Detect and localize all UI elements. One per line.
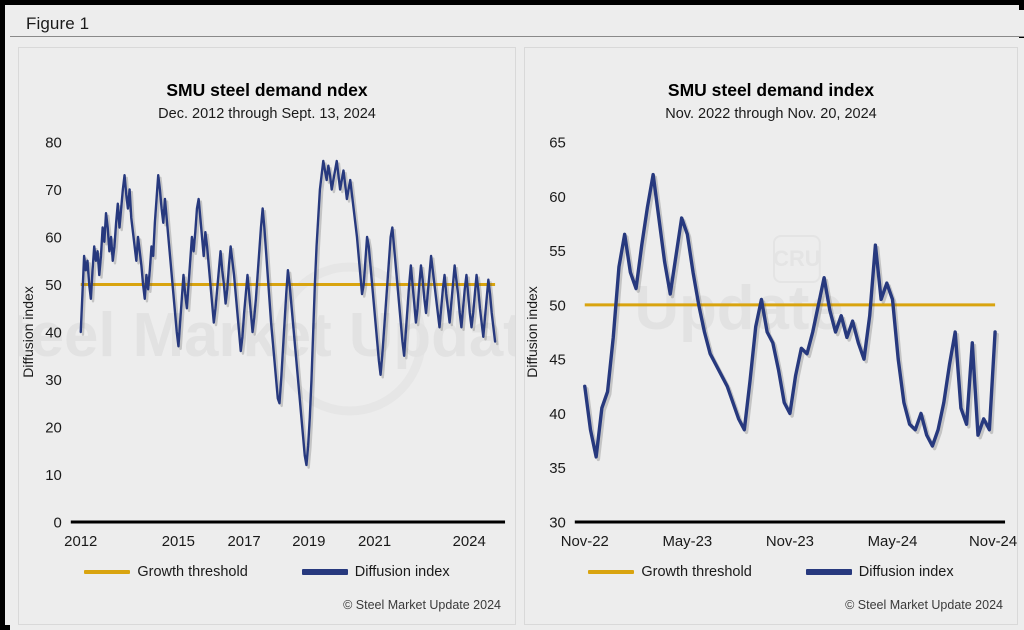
legend-label-diffusion-index: Diffusion index	[859, 564, 954, 580]
svg-text:40: 40	[45, 324, 62, 341]
chart-title-left: SMU steel demand ndex	[19, 80, 515, 101]
svg-text:50: 50	[549, 297, 566, 314]
svg-text:0: 0	[54, 514, 62, 531]
legend-item-growth-threshold[interactable]: Growth threshold	[588, 564, 751, 580]
svg-text:60: 60	[45, 229, 62, 246]
svg-text:Nov-24: Nov-24	[969, 533, 1017, 550]
legend-label-growth-threshold: Growth threshold	[641, 564, 751, 580]
plot-area-right: UpdateCRU3035404550556065Diffusion index…	[525, 134, 1017, 554]
svg-text:60: 60	[549, 189, 566, 206]
legend-item-diffusion-index[interactable]: Diffusion index	[806, 564, 954, 580]
svg-text:2012: 2012	[64, 533, 97, 550]
plot-area-left: Steel Market Update01020304050607080Diff…	[19, 134, 515, 554]
svg-text:10: 10	[45, 467, 62, 484]
svg-text:2015: 2015	[162, 533, 195, 550]
chart-subtitle-left: Dec. 2012 through Sept. 13, 2024	[19, 106, 515, 122]
y-axis-title: Diffusion index	[20, 286, 36, 378]
legend-line-icon-blue	[302, 569, 348, 575]
figure-label: Figure 1	[26, 14, 89, 34]
svg-text:20: 20	[45, 419, 62, 436]
chart-title-right: SMU steel demand index	[525, 80, 1017, 101]
legend-line-icon-gold	[84, 570, 130, 574]
svg-text:2021: 2021	[358, 533, 391, 550]
svg-text:50: 50	[45, 277, 62, 294]
svg-text:2019: 2019	[292, 533, 325, 550]
legend-right: Growth threshold Diffusion index	[525, 564, 1017, 580]
svg-text:CRU: CRU	[773, 246, 820, 271]
copyright-right: © Steel Market Update 2024	[845, 598, 1003, 612]
x-axis-ticks: Nov-22May-23Nov-23May-24Nov-24	[561, 533, 1017, 550]
chart-svg-right: UpdateCRU3035404550556065Diffusion index…	[525, 134, 1017, 554]
svg-text:40: 40	[549, 406, 566, 423]
svg-text:70: 70	[45, 182, 62, 199]
svg-text:Nov-23: Nov-23	[766, 533, 814, 550]
legend-line-icon-blue	[806, 569, 852, 575]
legend-left: Growth threshold Diffusion index	[19, 564, 515, 580]
chart-panel-left: SMU steel demand ndex Dec. 2012 through …	[18, 47, 516, 625]
svg-text:55: 55	[549, 243, 566, 260]
chart-panel-right: SMU steel demand index Nov. 2022 through…	[524, 47, 1018, 625]
panels-container: SMU steel demand ndex Dec. 2012 through …	[10, 38, 1024, 630]
svg-text:30: 30	[549, 514, 566, 531]
svg-text:May-24: May-24	[868, 533, 918, 550]
legend-label-growth-threshold: Growth threshold	[137, 564, 247, 580]
svg-text:May-23: May-23	[662, 533, 712, 550]
y-axis-title: Diffusion index	[525, 286, 540, 378]
legend-item-diffusion-index[interactable]: Diffusion index	[302, 564, 450, 580]
y-axis-ticks: 3035404550556065	[549, 134, 566, 531]
svg-text:2024: 2024	[453, 533, 486, 550]
svg-text:45: 45	[549, 352, 566, 369]
chart-svg-left: Steel Market Update01020304050607080Diff…	[19, 134, 515, 554]
figure-header: Figure 1	[10, 10, 1024, 37]
chart-subtitle-right: Nov. 2022 through Nov. 20, 2024	[525, 106, 1017, 122]
svg-text:30: 30	[45, 372, 62, 389]
svg-text:80: 80	[45, 134, 62, 151]
svg-text:2017: 2017	[227, 533, 260, 550]
legend-label-diffusion-index: Diffusion index	[355, 564, 450, 580]
figure-frame: Figure 1 SMU steel demand ndex Dec. 2012…	[0, 0, 1024, 630]
x-axis-ticks: 201220152017201920212024	[64, 533, 486, 550]
legend-item-growth-threshold[interactable]: Growth threshold	[84, 564, 247, 580]
svg-text:Nov-22: Nov-22	[561, 533, 609, 550]
svg-text:65: 65	[549, 134, 566, 151]
svg-text:35: 35	[549, 460, 566, 477]
copyright-left: © Steel Market Update 2024	[343, 598, 501, 612]
y-axis-ticks: 01020304050607080	[45, 134, 62, 531]
legend-line-icon-gold	[588, 570, 634, 574]
